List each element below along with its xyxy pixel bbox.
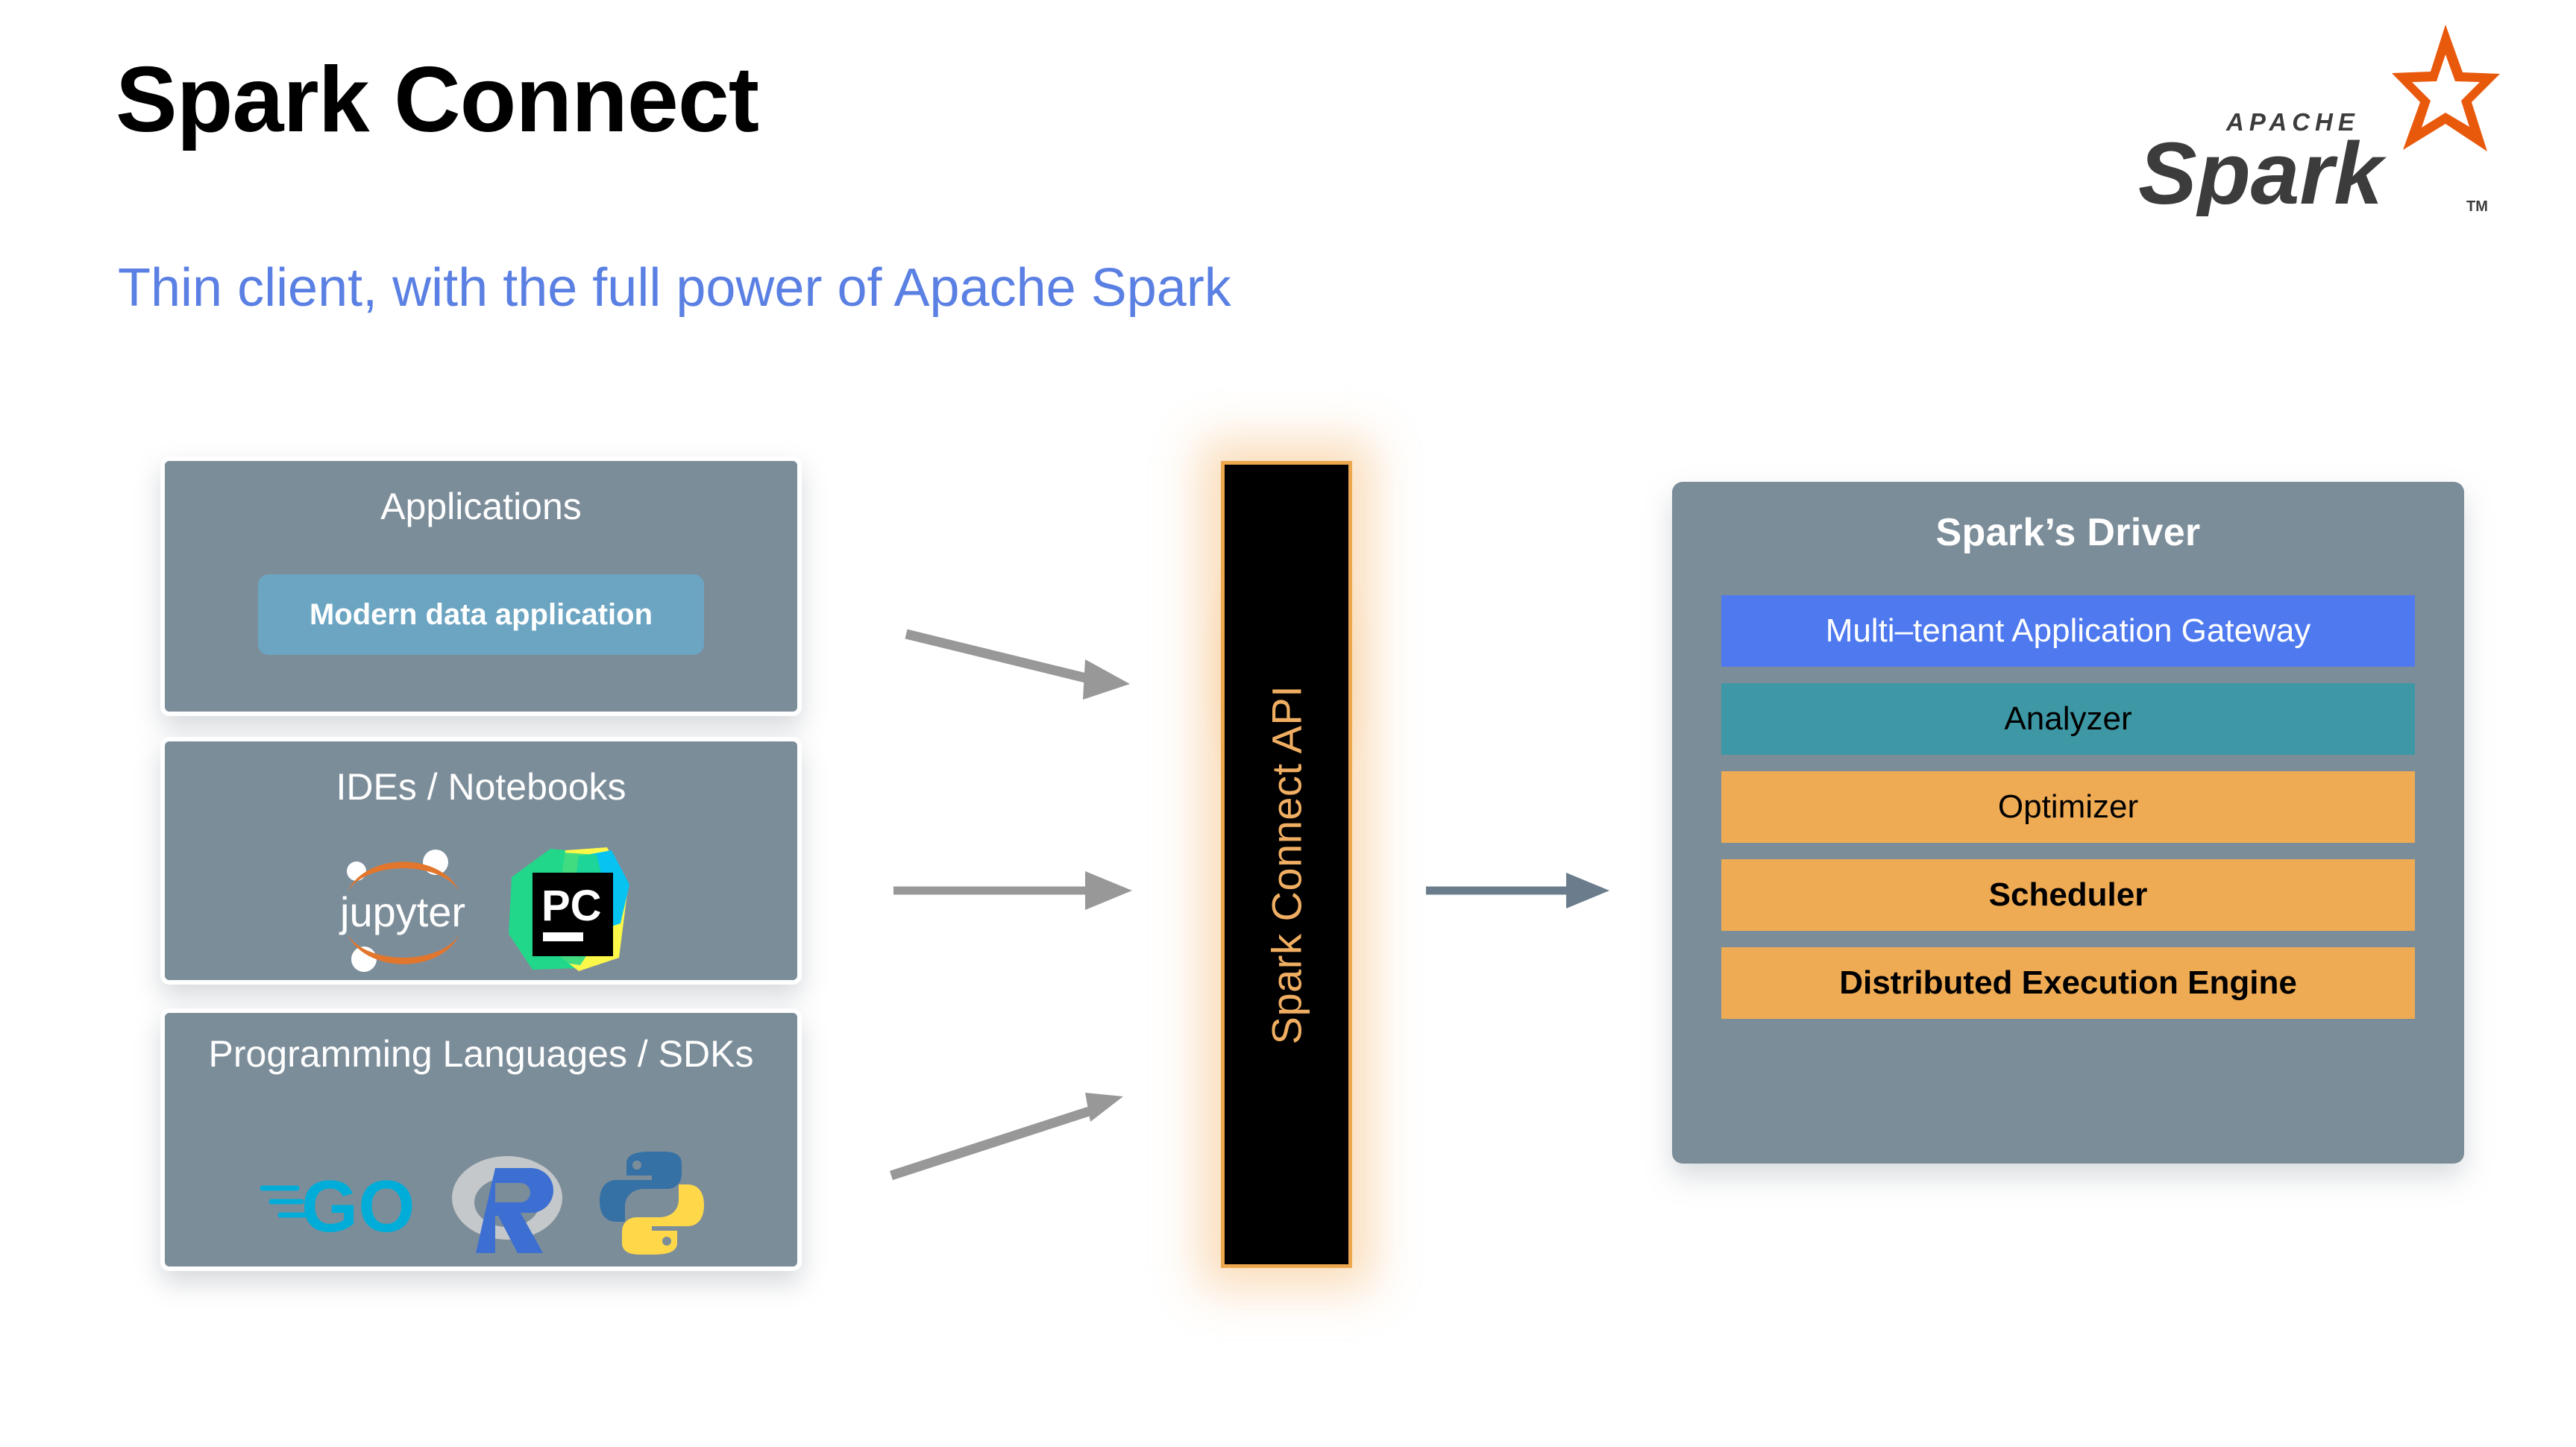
driver-row-execution-engine[interactable]: Distributed Execution Engine — [1721, 947, 2415, 1019]
pycharm-logo: PC — [507, 846, 631, 976]
arrow-applications-to-api — [906, 634, 1130, 700]
arrow-ides-to-api — [893, 871, 1132, 910]
slide-root: Spark Connect Thin client, with the full… — [0, 0, 2576, 1447]
pycharm-letters: PC — [541, 882, 602, 930]
r-logo — [447, 1147, 567, 1259]
jupyter-logo: jupyter — [331, 846, 473, 976]
jupyter-wordmark: jupyter — [339, 888, 465, 935]
modern-data-application-pill[interactable]: Modern data application — [258, 574, 704, 655]
apache-spark-logo: APACHE Spark TM — [2129, 19, 2502, 216]
spark-driver-title: Spark’s Driver — [1672, 510, 2464, 555]
ide-logo-row: jupyter PC — [165, 846, 797, 976]
arrow-languages-to-api — [891, 1093, 1123, 1176]
client-box-applications[interactable]: Applications Modern data application — [160, 456, 802, 716]
driver-row-gateway[interactable]: Multi–tenant Application Gateway — [1721, 595, 2415, 667]
driver-row-list: Multi–tenant Application Gateway Analyze… — [1721, 595, 2415, 1035]
page-subtitle: Thin client, with the full power of Apac… — [118, 261, 1231, 315]
language-logo-row: GO — [165, 1140, 797, 1266]
spark-driver-panel[interactable]: Spark’s Driver Multi–tenant Application … — [1672, 482, 2464, 1164]
driver-row-analyzer[interactable]: Analyzer — [1721, 683, 2415, 755]
driver-row-optimizer[interactable]: Optimizer — [1721, 771, 2415, 843]
go-letters: GO — [301, 1165, 415, 1247]
driver-row-scheduler[interactable]: Scheduler — [1721, 859, 2415, 931]
logo-trademark: TM — [2466, 198, 2488, 215]
client-box-title: Programming Languages / SDKs — [165, 1032, 797, 1076]
logo-spark-word: Spark — [2138, 125, 2387, 216]
client-box-title: IDEs / Notebooks — [165, 765, 797, 809]
python-logo — [600, 1147, 704, 1259]
spark-connect-api-label: Spark Connect API — [1263, 685, 1311, 1044]
arrow-api-to-driver — [1426, 873, 1609, 908]
client-box-title: Applications — [165, 485, 797, 528]
client-box-ides-notebooks[interactable]: IDEs / Notebooks jupyter PC — [160, 737, 802, 985]
spark-connect-api-bar[interactable]: Spark Connect API — [1221, 461, 1352, 1268]
go-logo: GO — [258, 1158, 415, 1248]
page-title: Spark Connect — [116, 54, 758, 146]
client-box-programming-languages[interactable]: Programming Languages / SDKs GO — [160, 1008, 802, 1271]
